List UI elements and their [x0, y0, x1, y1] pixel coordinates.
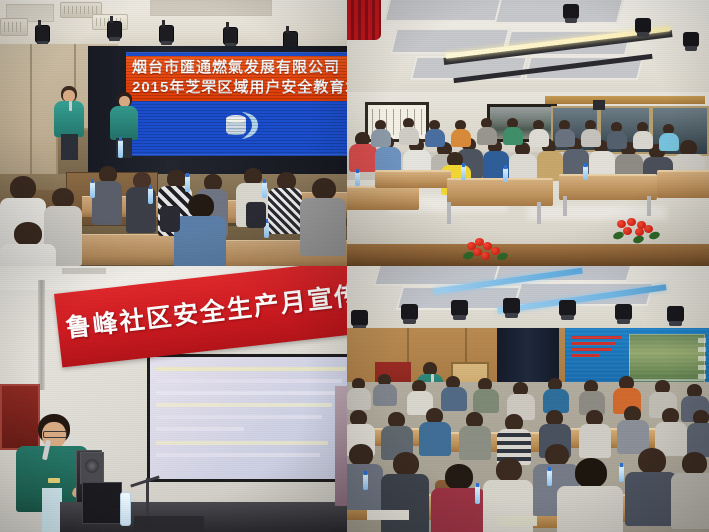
audience-member — [0, 222, 56, 266]
ceiling-coffer — [494, 0, 624, 24]
audience-member — [625, 448, 677, 524]
desk-row — [375, 170, 451, 188]
led-display-screen: 烟台市匯通燃氣发展有限公司 2015年芝罘区域用户安全教育培训 — [126, 52, 347, 156]
audience-member — [459, 412, 491, 458]
audience-member — [617, 406, 649, 452]
audience-member — [477, 118, 497, 144]
stage-spotlight-icon — [563, 4, 579, 19]
stage-spotlight-icon — [503, 298, 520, 314]
stage-spotlight-icon — [224, 28, 237, 44]
red-curtain — [347, 0, 381, 40]
audience-member — [399, 118, 419, 144]
audience-member — [451, 120, 471, 146]
water-bottle — [185, 176, 190, 192]
water-bottle — [148, 188, 153, 204]
chair — [246, 202, 266, 228]
audience-member — [507, 382, 535, 416]
audience-member — [441, 376, 467, 408]
desk-row — [559, 174, 657, 200]
water-bottle — [461, 166, 466, 180]
stage-spotlight-icon — [401, 304, 418, 320]
panel-bottom-left-community-lecture: 鲁峰社区安全生产月宣传 — [0, 266, 347, 532]
ac-vent — [0, 18, 28, 36]
audience-member — [557, 458, 623, 532]
stage-spotlight-icon — [351, 310, 368, 326]
red-flowers — [463, 236, 513, 262]
water-bottle — [90, 182, 95, 198]
desk-edge — [134, 516, 204, 532]
wall-pipe — [38, 280, 45, 390]
audience-member — [373, 374, 397, 404]
paper-handout — [367, 510, 409, 520]
stage-spotlight-icon — [667, 306, 684, 322]
water-bottle — [583, 166, 588, 180]
water-bottle — [619, 466, 624, 482]
audience-member — [92, 166, 122, 224]
wall-speaker — [593, 100, 605, 110]
glasses-icon — [43, 431, 67, 438]
ceiling-fixture — [62, 268, 106, 274]
audience-member — [419, 408, 451, 454]
led-banner-band — [126, 56, 347, 101]
desk-row — [657, 170, 709, 198]
audience-member — [579, 410, 611, 456]
audience-member — [473, 378, 499, 410]
led-banner-line2: 2015年芝罘区域用户安全教育培训 — [132, 78, 347, 98]
audience-member — [579, 380, 605, 412]
panel-top-right-conference-room — [347, 0, 709, 266]
stage-spotlight-icon — [615, 304, 632, 320]
gas-company-logo-icon — [222, 110, 262, 144]
water-bottle — [363, 474, 368, 490]
red-flowers — [611, 218, 665, 248]
water-bottle — [503, 168, 508, 182]
water-bottle — [475, 486, 480, 504]
audience-member — [659, 124, 679, 150]
audience-member — [381, 452, 429, 532]
water-bottle — [262, 182, 267, 198]
projection-screen — [150, 357, 347, 479]
audience-member — [555, 120, 575, 146]
audience-member — [347, 378, 371, 408]
desk-row — [347, 186, 419, 210]
slide-title-text — [571, 336, 621, 360]
audience-member — [581, 120, 601, 146]
audience-member — [529, 120, 549, 146]
projection-screen-frame — [147, 354, 347, 482]
monitor — [82, 482, 122, 524]
panel-top-left-led-stage: 烟台市匯通燃氣发展有限公司 2015年芝罘区域用户安全教育培训 — [0, 0, 347, 266]
water-bottle — [355, 172, 360, 186]
slide-photo-group — [629, 334, 705, 380]
audience-area — [0, 148, 347, 266]
stage-spotlight-icon — [559, 300, 576, 316]
audience-member — [174, 194, 226, 266]
audience-member — [503, 118, 523, 144]
audience-member — [613, 376, 641, 410]
audience-member — [425, 120, 445, 146]
microphone-icon — [69, 101, 72, 111]
ceiling-coffer — [384, 0, 505, 22]
chair — [160, 206, 180, 232]
audience-seating — [347, 382, 709, 532]
ceiling-panel — [150, 0, 272, 16]
stage-spotlight-icon — [160, 26, 173, 42]
side-wall — [335, 386, 347, 506]
audience-member — [268, 172, 302, 232]
stage-spotlight-icon — [36, 26, 49, 42]
stage-spotlight-icon — [108, 22, 121, 38]
name-badge — [48, 478, 60, 483]
stage-spotlight-icon — [683, 32, 699, 47]
audience-member — [607, 122, 627, 148]
audience-member — [687, 410, 709, 456]
audience-member — [543, 378, 569, 410]
stage-spotlight-icon — [451, 300, 468, 316]
water-bottle — [547, 470, 552, 486]
water-bottle — [120, 492, 131, 526]
wood-trim — [545, 96, 705, 104]
audience-member — [671, 452, 709, 528]
audience-member — [300, 178, 346, 256]
photo-collage: 烟台市匯通燃氣发展有限公司 2015年芝罘区域用户安全教育培训 — [0, 0, 709, 532]
led-banner-line1: 烟台市匯通燃氣发展有限公司 — [132, 58, 347, 78]
audience-member — [371, 120, 391, 146]
stage-spotlight-icon — [635, 18, 651, 33]
panel-bottom-right-auditorium — [347, 266, 709, 532]
audience-member — [633, 122, 653, 148]
audience-member — [497, 414, 531, 462]
paper-handout — [497, 516, 537, 526]
